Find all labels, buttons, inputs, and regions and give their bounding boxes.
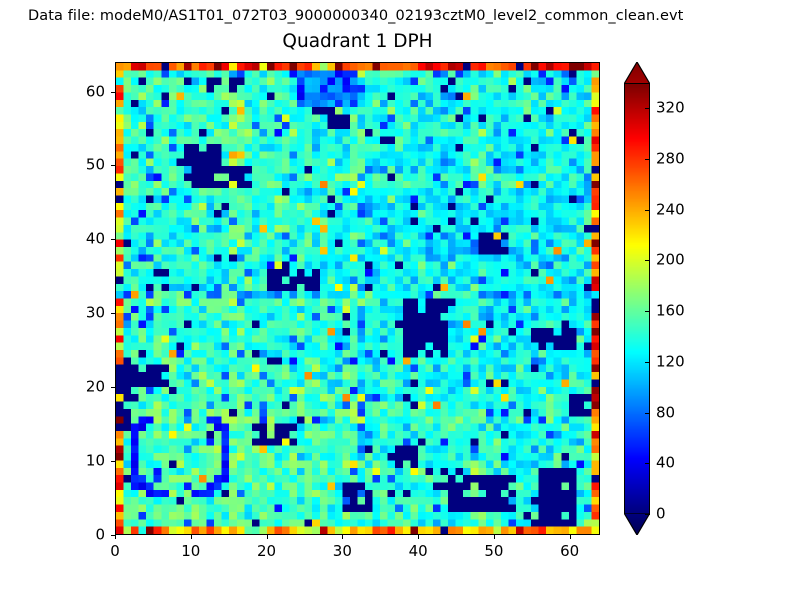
y-tick-label: 40 (57, 231, 105, 248)
x-tick-mark (267, 535, 268, 539)
colorbar-tick-mark (645, 210, 650, 211)
y-tick-mark (111, 313, 115, 314)
colorbar-tick-mark (645, 108, 650, 109)
x-tick-label: 0 (110, 543, 120, 560)
x-tick-label: 40 (409, 543, 428, 560)
colorbar-tick-label: 40 (656, 455, 675, 472)
plot-title: Quadrant 1 DPH (115, 31, 600, 53)
x-tick-mark (494, 535, 495, 539)
y-tick-mark (111, 165, 115, 166)
colorbar-tick-label: 320 (656, 100, 685, 117)
heatmap-image (116, 63, 599, 534)
y-tick-label: 50 (57, 157, 105, 174)
colorbar-gradient-canvas (625, 84, 649, 513)
y-tick-label: 0 (57, 527, 105, 544)
colorbar-tick-mark (645, 362, 650, 363)
colorbar-tick-mark (645, 260, 650, 261)
y-tick-mark (111, 239, 115, 240)
colorbar-tick-mark (645, 514, 650, 515)
x-tick-label: 10 (181, 543, 200, 560)
colorbar-tick-label: 160 (656, 303, 685, 320)
y-tick-mark (111, 535, 115, 536)
colorbar-tick-label: 120 (656, 353, 685, 370)
x-tick-mark (191, 535, 192, 539)
colorbar-tick-label: 280 (656, 151, 685, 168)
x-tick-label: 50 (484, 543, 503, 560)
colorbar-tick-label: 200 (656, 252, 685, 269)
colorbar-tick-mark (645, 311, 650, 312)
colorbar-extend-bottom-arrow (624, 513, 650, 535)
x-tick-label: 30 (333, 543, 352, 560)
x-tick-mark (342, 535, 343, 539)
figure-canvas: Data file: modeM0/AS1T01_072T03_90000003… (0, 0, 800, 600)
colorbar-tick-label: 0 (656, 506, 666, 523)
data-file-caption: Data file: modeM0/AS1T01_072T03_90000003… (28, 7, 683, 25)
colorbar-tick-mark (645, 413, 650, 414)
heatmap-axes[interactable] (115, 62, 600, 535)
x-tick-mark (418, 535, 419, 539)
y-tick-label: 30 (57, 305, 105, 322)
y-tick-mark (111, 461, 115, 462)
x-tick-label: 60 (560, 543, 579, 560)
x-tick-label: 20 (257, 543, 276, 560)
colorbar-extend-top-arrow (624, 62, 650, 84)
colorbar-gradient-body (624, 83, 650, 514)
y-tick-mark (111, 92, 115, 93)
x-tick-mark (115, 535, 116, 539)
x-tick-mark (570, 535, 571, 539)
colorbar-tick-mark (645, 463, 650, 464)
colorbar-tick-label: 80 (656, 404, 675, 421)
colorbar-tick-mark (645, 159, 650, 160)
y-tick-label: 10 (57, 453, 105, 470)
y-tick-mark (111, 387, 115, 388)
y-tick-label: 60 (57, 83, 105, 100)
colorbar-tick-label: 240 (656, 201, 685, 218)
y-tick-label: 20 (57, 379, 105, 396)
